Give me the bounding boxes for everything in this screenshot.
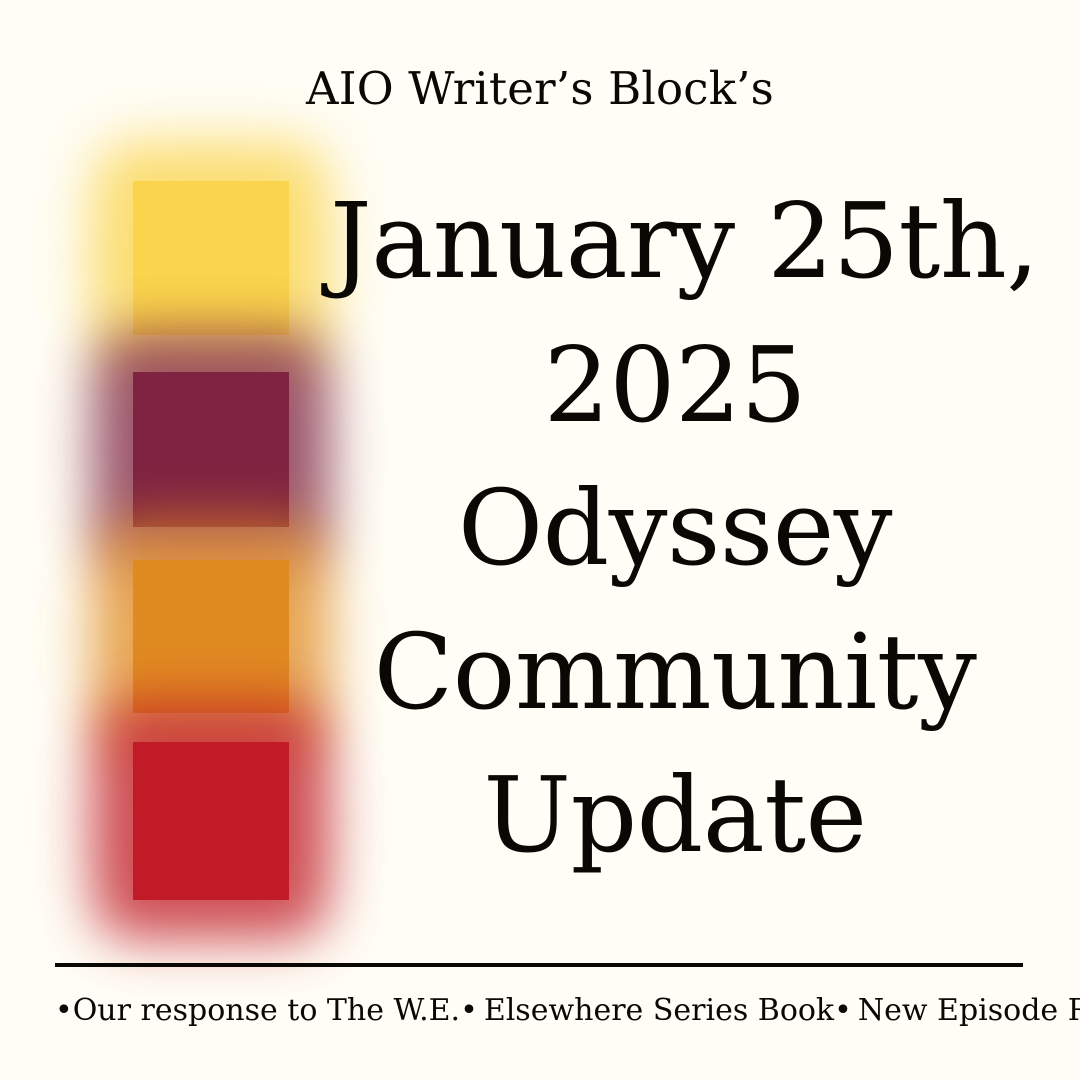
bullet-icon: •: [834, 993, 852, 1028]
title-line-5: Update: [330, 744, 1020, 888]
footer-item-1-label: Our response to The W.E.: [73, 993, 460, 1028]
maroon-swatch: [133, 372, 289, 527]
kicker-text: AIO Writer’s Block’s: [0, 66, 1080, 111]
title-line-3: Odyssey: [330, 457, 1020, 601]
red-swatch-chip: [133, 742, 289, 900]
bullet-icon: •: [460, 993, 478, 1028]
title-line-2: 2025: [330, 314, 1020, 458]
footer-item-2: •Elsewhere Series Book: [460, 996, 834, 1026]
yellow-swatch-chip: [133, 181, 289, 335]
footer-item-3: •New Episode Releases: [834, 996, 1080, 1026]
bullet-icon: •: [55, 993, 73, 1028]
yellow-swatch: [133, 181, 289, 335]
poster-canvas: AIO Writer’s Block’s January 25th, 2025 …: [0, 0, 1080, 1080]
horizontal-divider: [55, 963, 1023, 967]
red-swatch: [133, 742, 289, 900]
title-line-1: January 25th,: [330, 170, 1020, 314]
footer-item-2-label: Elsewhere Series Book: [484, 993, 834, 1028]
title-line-4: Community: [330, 601, 1020, 745]
maroon-swatch-chip: [133, 372, 289, 527]
color-swatch-column: [133, 181, 289, 900]
orange-swatch-chip: [133, 560, 289, 713]
footer-item-1: •Our response to The W.E.: [55, 996, 460, 1026]
page-title: January 25th, 2025 Odyssey Community Upd…: [330, 170, 1020, 888]
footer-topic-list: •Our response to The W.E. •Elsewhere Ser…: [55, 996, 1040, 1026]
orange-swatch: [133, 560, 289, 713]
footer-item-3-label: New Episode Releases: [858, 993, 1080, 1028]
